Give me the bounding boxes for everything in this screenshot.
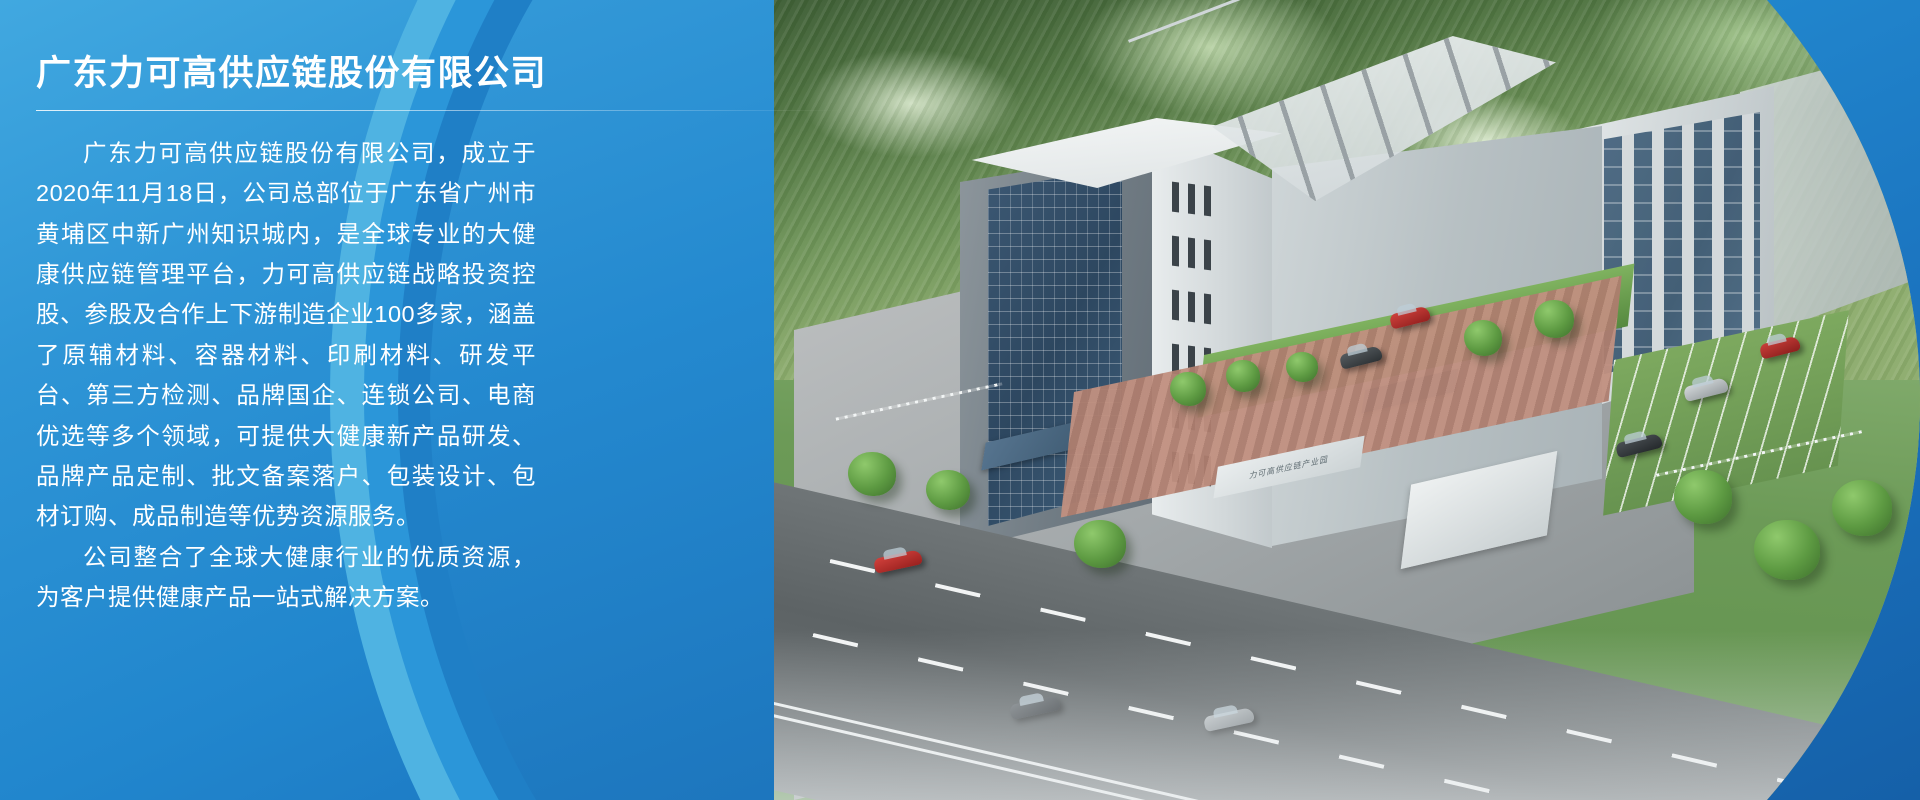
landscape-tree <box>1226 360 1260 392</box>
slot-window <box>1188 292 1195 323</box>
company-description-paragraph-2: 公司整合了全球大健康行业的优质资源，为客户提供健康产品一站式解决方案。 <box>36 537 536 618</box>
landscape-tree <box>1286 352 1318 382</box>
slot-window <box>1204 186 1211 217</box>
slot-window <box>1172 182 1179 213</box>
company-profile-banner: 力可高供应链产业园 <box>0 0 1920 800</box>
landscape-tree <box>848 452 896 496</box>
landscape-tree <box>1534 300 1574 338</box>
atmospheric-haze <box>774 630 1920 800</box>
slot-window <box>1204 240 1211 271</box>
landscape-tree <box>1074 520 1126 568</box>
campus-photo: 力可高供应链产业园 <box>774 0 1920 800</box>
slot-window <box>1188 238 1195 269</box>
slot-window <box>1172 290 1179 321</box>
slot-window <box>1172 236 1179 267</box>
text-column: 广东力可高供应链股份有限公司 广东力可高供应链股份有限公司，成立于2020年11… <box>0 0 560 618</box>
landscape-tree <box>926 470 970 510</box>
page-title: 广东力可高供应链股份有限公司 <box>36 52 560 96</box>
landscape-tree <box>1170 372 1206 406</box>
company-description-paragraph-1: 广东力可高供应链股份有限公司，成立于2020年11月18日，公司总部位于广东省广… <box>36 133 536 537</box>
landscape-tree <box>1832 480 1892 536</box>
campus-photo-disc: 力可高供应链产业园 <box>474 0 1920 800</box>
slot-window <box>1204 294 1211 325</box>
title-divider <box>36 110 1426 111</box>
landscape-tree <box>1674 470 1732 524</box>
landscape-tree <box>1464 320 1502 356</box>
landscape-tree <box>1754 520 1820 580</box>
slot-window <box>1188 184 1195 215</box>
